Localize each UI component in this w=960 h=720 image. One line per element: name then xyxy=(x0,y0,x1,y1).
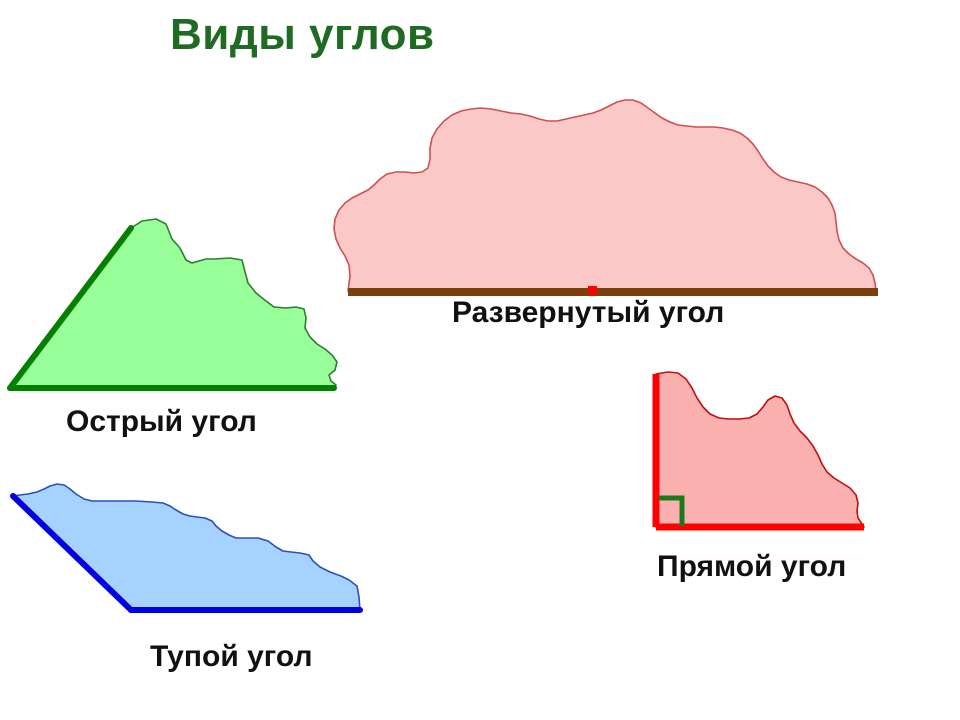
straight-angle-shape xyxy=(334,100,878,295)
acute-angle-ray-left xyxy=(10,228,131,388)
right-angle-square-marker xyxy=(659,498,682,526)
caption-obtuse-angle: Тупой угол xyxy=(150,640,313,674)
obtuse-angle-ray-left xyxy=(13,496,131,610)
caption-right-angle: Прямой угол xyxy=(657,550,846,584)
straight-angle-vertex-marker xyxy=(588,286,597,295)
acute-angle-shape xyxy=(10,219,337,388)
figure-straight-angle xyxy=(0,0,960,720)
page-title: Виды углов xyxy=(170,10,435,60)
obtuse-angle-shape xyxy=(13,484,360,610)
figure-right-angle xyxy=(0,0,960,720)
slide-canvas: Виды углов Острый угол Тупой угол Развер… xyxy=(0,0,960,720)
right-angle-shape xyxy=(656,372,864,527)
figure-obtuse-angle xyxy=(0,0,960,720)
caption-acute-angle: Острый угол xyxy=(66,405,257,439)
straight-angle-blob-fill xyxy=(334,100,876,291)
obtuse-angle-blob-fill xyxy=(13,484,360,610)
right-angle-blob-fill xyxy=(656,372,864,527)
caption-straight-angle: Развернутый угол xyxy=(452,296,724,330)
acute-angle-blob-fill xyxy=(10,219,337,388)
figure-acute-angle xyxy=(0,0,960,720)
